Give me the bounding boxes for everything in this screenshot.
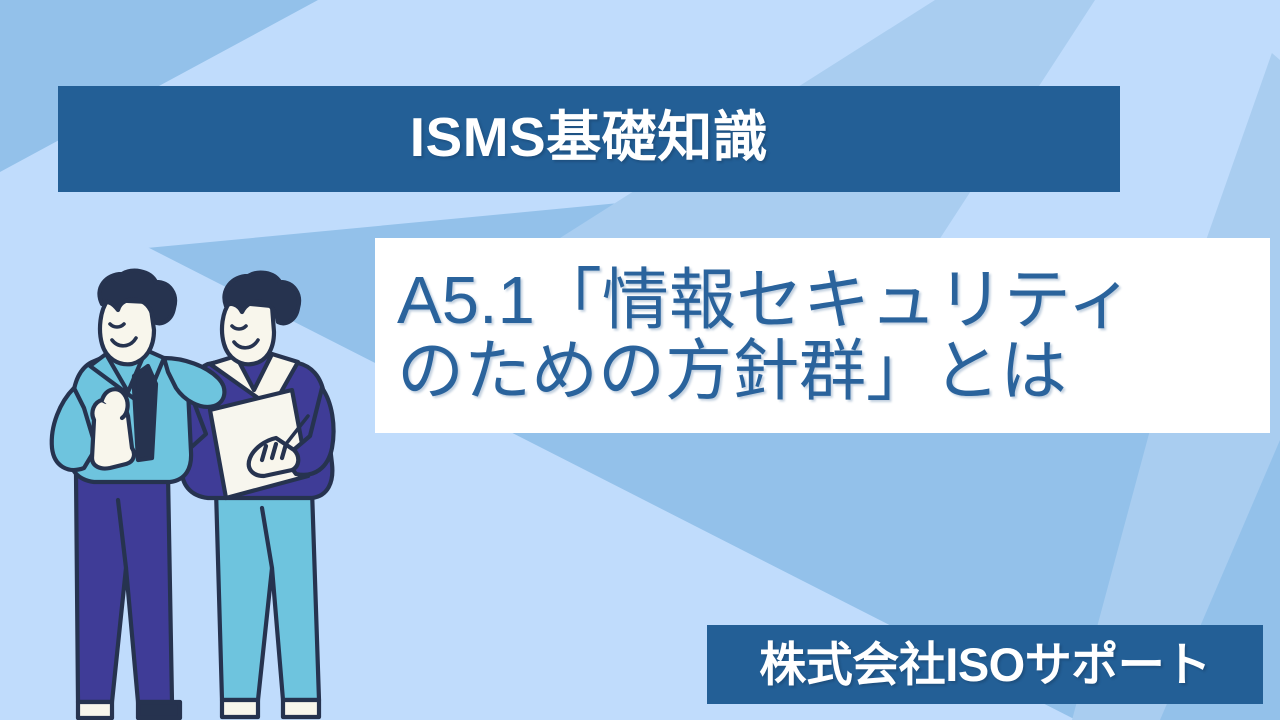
left-person-pants <box>76 474 172 702</box>
left-person-shoe-right <box>138 702 180 718</box>
right-person-shoe-left <box>222 700 258 717</box>
right-person-face <box>222 302 274 364</box>
page-title-line-1: A5.1「情報セキュリティ <box>397 266 1134 335</box>
company-banner: 株式会社ISOサポート <box>707 625 1263 704</box>
page-title-line-2: のための方針群」とは <box>397 337 1067 406</box>
necktie <box>134 366 156 460</box>
right-person-shoe-right <box>283 700 319 717</box>
right-person <box>152 273 333 717</box>
slide-canvas: ISMS基礎知識 A5.1「情報セキュリティ のための方針群」とは 株式会社IS… <box>0 0 1280 720</box>
header-banner-label: ISMS基礎知識 <box>410 110 768 165</box>
title-card: A5.1「情報セキュリティ のための方針群」とは <box>375 238 1270 433</box>
left-person-face <box>100 300 154 364</box>
header-banner: ISMS基礎知識 <box>58 86 1120 192</box>
right-person-pants <box>216 490 319 700</box>
left-person-shoe-left <box>78 702 112 718</box>
two-businessmen-illustration <box>40 268 370 720</box>
company-name-label: 株式会社ISOサポート <box>759 641 1210 688</box>
